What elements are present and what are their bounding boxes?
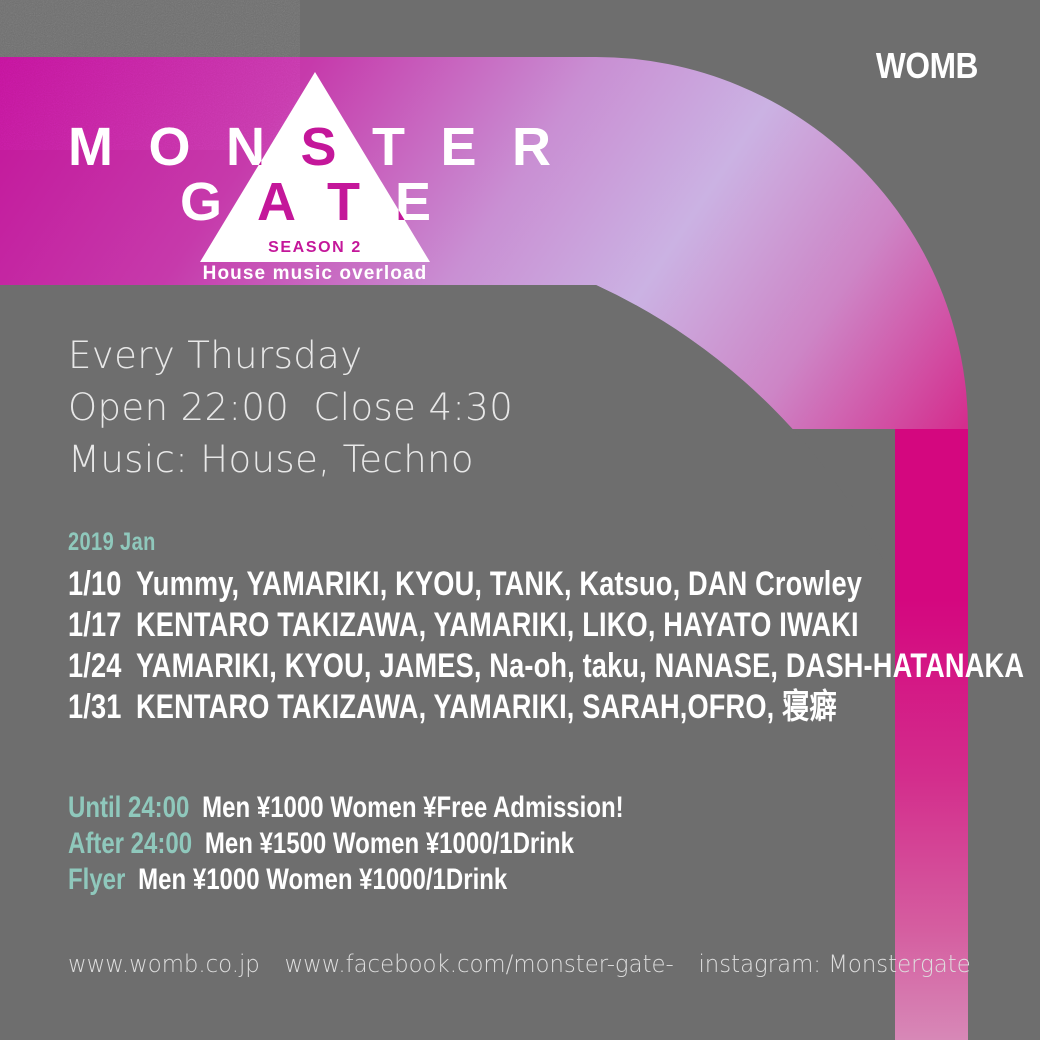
footer-website-link[interactable]: www.womb.co.jp: [68, 950, 260, 978]
lineup-artists: YAMARIKI, KYOU, JAMES, Na-oh, taku, NANA…: [136, 647, 1024, 685]
price-value: Men ¥1000 Women ¥1000/1Drink: [138, 863, 507, 896]
monster-gate-logo: MONSTER MONSTER GATE GATE SEASON 2 House…: [0, 57, 660, 285]
price-label: Flyer: [68, 863, 125, 896]
lineup-date: 1/31: [68, 688, 122, 726]
price-label: After 24:00: [68, 827, 192, 860]
footer-facebook-link[interactable]: www.facebook.com/monster-gate-: [284, 950, 673, 978]
headline-line-open-close: Open 22:00 Close 4:30: [68, 382, 1008, 434]
price-row: After 24:00Men ¥1500 Women ¥1000/1Drink: [68, 826, 820, 862]
lineup-row: 1/31KENTARO TAKIZAWA, YAMARIKI, SARAH,OF…: [68, 687, 820, 728]
lineup-row: 1/17KENTARO TAKIZAWA, YAMARIKI, LIKO, HA…: [68, 605, 820, 646]
price-value: Men ¥1500 Women ¥1000/1Drink: [205, 827, 574, 860]
logo-season-label: SEASON 2: [268, 239, 362, 256]
lineup-row: 1/24YAMARIKI, KYOU, JAMES, Na-oh, taku, …: [68, 646, 820, 687]
headline-block: Every Thursday Open 22:00 Close 4:30 Mus…: [68, 330, 1008, 486]
womb-wordmark: WOMB: [876, 48, 978, 84]
pricing-block: Until 24:00Men ¥1000 Women ¥Free Admissi…: [68, 790, 1008, 898]
lineup-date: 1/17: [68, 606, 122, 644]
lineup-artists: Yummy, YAMARIKI, KYOU, TANK, Katsuo, DAN…: [136, 565, 862, 603]
lineup-artists: KENTARO TAKIZAWA, YAMARIKI, SARAH,OFRO, …: [136, 688, 837, 726]
lineup-month-label: 2019 Jan: [68, 528, 820, 556]
footer-instagram-link[interactable]: instagram: Monstergate: [698, 950, 970, 978]
price-row: FlyerMen ¥1000 Women ¥1000/1Drink: [68, 862, 820, 898]
price-value: Men ¥1000 Women ¥Free Admission!: [202, 791, 623, 824]
lineup-date: 1/10: [68, 565, 122, 603]
logo-tagline: House music overload: [203, 263, 428, 284]
price-label: Until 24:00: [68, 791, 189, 824]
lineup-block: 2019 Jan 1/10Yummy, YAMARIKI, KYOU, TANK…: [68, 528, 1008, 728]
content-column: Every Thursday Open 22:00 Close 4:30 Mus…: [68, 330, 1008, 898]
flyer-canvas: WOMB MONSTER MONSTER GATE GATE SEASON 2 …: [0, 0, 1040, 1040]
lineup-row: 1/10Yummy, YAMARIKI, KYOU, TANK, Katsuo,…: [68, 564, 820, 605]
lineup-date: 1/24: [68, 647, 122, 685]
price-row: Until 24:00Men ¥1000 Women ¥Free Admissi…: [68, 790, 820, 826]
lineup-artists: KENTARO TAKIZAWA, YAMARIKI, LIKO, HAYATO…: [136, 606, 859, 644]
headline-line-every-thursday: Every Thursday: [68, 330, 1008, 382]
footer-links: www.womb.co.jpwww.facebook.com/monster-g…: [68, 950, 971, 978]
headline-line-music: Music: House, Techno: [68, 434, 1008, 486]
